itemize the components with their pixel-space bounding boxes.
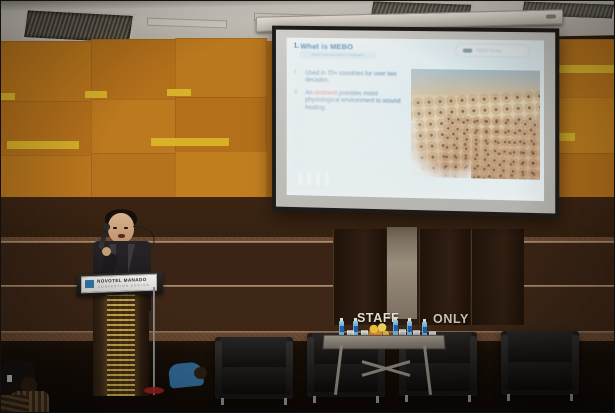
wall-accent-stripe [85, 91, 107, 98]
bullet-text: An ointment provides moist physiological… [305, 89, 408, 113]
sofa-leg [284, 398, 287, 405]
wall-accent-stripe [0, 93, 15, 100]
table-leg [334, 345, 343, 395]
microphone-stand-base [144, 387, 164, 394]
slide-subtitle: Moist Exposed Burn Ointment [299, 51, 376, 60]
podium-fabric-pattern [107, 292, 135, 396]
venue-subtitle: CONVENTION CENTER [98, 283, 150, 289]
podium-lectern [93, 292, 149, 396]
conference-photo-scene: 1. What is MEBO Moist Exposed Burn Ointm… [0, 0, 615, 413]
presentation-slide: 1. What is MEBO Moist Exposed Burn Ointm… [287, 38, 544, 201]
wall-accent-stripe [557, 133, 575, 141]
novotel-logo-icon [85, 280, 94, 288]
sofa-seat [508, 362, 572, 390]
speaker-hand [102, 247, 111, 256]
table-leg-frame [331, 345, 435, 397]
bottle-cap-icon [354, 318, 357, 321]
footer-logo-icon [298, 171, 302, 185]
footer-logo-icon [325, 172, 329, 186]
sofa-arm [501, 335, 508, 390]
bottle-cap-icon [408, 318, 411, 321]
slide-badge-text: MEBO Group [476, 47, 501, 54]
roller-knob-icon [546, 14, 556, 18]
slide-number: 1. [294, 43, 300, 50]
bullet-text: Used in 70+ countries for over two decad… [305, 70, 408, 86]
audience-body [0, 395, 29, 413]
bullet-text-highlight: ointment [314, 89, 337, 96]
sofa-leg [313, 396, 316, 403]
sofa-arm [286, 341, 293, 394]
wall-accent-stripe [167, 89, 191, 96]
footer-logo-icon [307, 172, 311, 186]
wall-accent-stripe [559, 65, 615, 73]
footer-logo-icon [316, 172, 320, 186]
slide-bullet: ii. An ointment provides moist physiolog… [295, 89, 409, 113]
wall-panel [91, 99, 177, 159]
speaker-eye [113, 227, 117, 229]
sofa-leg [376, 396, 379, 403]
sofa-leg [468, 395, 471, 402]
slide-histology-image [411, 69, 540, 180]
foreground-audience [1, 331, 73, 413]
crew-member-head [194, 367, 207, 379]
sofa-seat [222, 367, 286, 394]
slide-bullet: i. Used in 70+ countries for over two de… [295, 69, 409, 85]
speaker-eye [124, 227, 128, 229]
slide-footer-logos [298, 171, 328, 186]
wall-panel [175, 97, 267, 159]
podium-venue-sign: NOVOTEL MANADO CONVENTION CENTER [81, 274, 157, 294]
microphone-stand [153, 287, 155, 395]
bullet-text-lead: An [305, 89, 314, 96]
jacket-lapel [128, 244, 135, 274]
stage-sofa [215, 337, 293, 399]
bullet-marker: ii. [295, 89, 299, 95]
sofa-arm [572, 335, 579, 390]
bottle-cap-icon [394, 317, 397, 320]
sofa-backrest [220, 337, 289, 367]
partition-gap [387, 227, 417, 319]
name-badge [7, 375, 12, 382]
sofa-leg [570, 394, 573, 401]
sofa-backrest [506, 331, 575, 362]
partition-door [471, 229, 524, 325]
only-word: ONLY [433, 312, 469, 326]
wall-accent-stripe [151, 138, 229, 146]
sofa-leg [507, 394, 510, 401]
wall-panel [0, 101, 93, 159]
speaker-mouth [118, 234, 125, 238]
screen-surface: 1. What is MEBO Moist Exposed Burn Ointm… [276, 30, 555, 214]
stage-sofa [501, 331, 579, 395]
slide-bullet-list: i. Used in 70+ countries for over two de… [295, 69, 409, 118]
wall-panel [557, 97, 615, 155]
tissue-edge [411, 121, 471, 180]
badge-mark-icon [463, 48, 472, 52]
sofa-leg [221, 398, 224, 405]
sofa-arm [307, 337, 314, 392]
wall-accent-stripe [7, 141, 79, 149]
bottle-cap-icon [423, 319, 426, 322]
bottle-cap-icon [340, 318, 343, 321]
table-leg [423, 345, 432, 395]
projection-screen: 1. What is MEBO Moist Exposed Burn Ointm… [272, 26, 559, 218]
sofa-arm [470, 336, 477, 391]
slide-logo-badge: MEBO Group [455, 43, 530, 57]
bullet-marker: i. [295, 69, 298, 75]
sofa-arm [215, 341, 222, 394]
